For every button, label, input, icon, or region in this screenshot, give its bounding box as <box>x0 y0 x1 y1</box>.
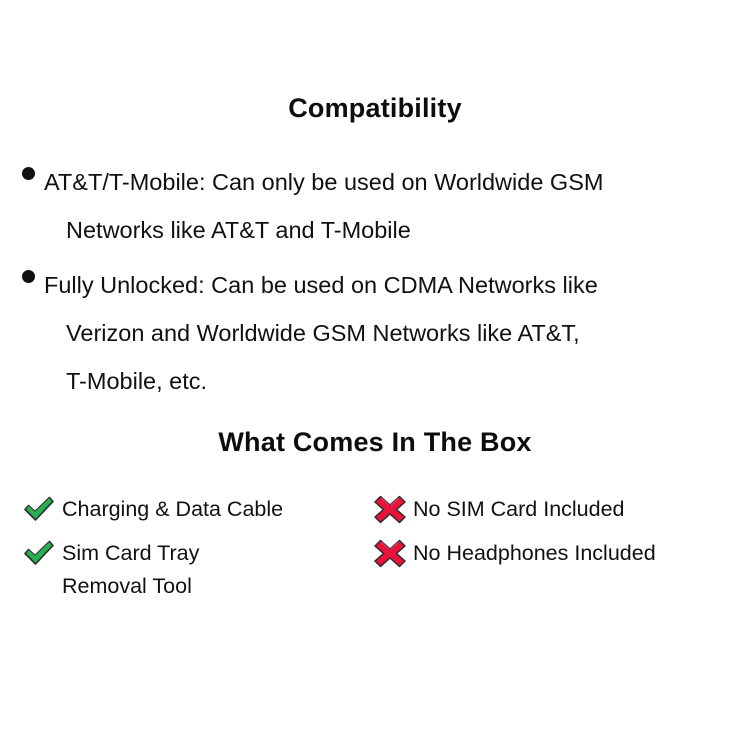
compatibility-item-line: Verizon and Worldwide GSM Networks like … <box>44 309 734 357</box>
filled-circle-bullet-icon <box>22 261 42 283</box>
included-items-column: Charging & Data Cable Sim Card Tray Remo… <box>0 492 368 612</box>
list-item: No Headphones Included <box>373 536 750 571</box>
not-included-item-line: No Headphones Included <box>413 537 750 570</box>
compatibility-item-text: Fully Unlocked: Can be used on CDMA Netw… <box>42 261 734 405</box>
included-item-label: Charging & Data Cable <box>62 492 368 526</box>
included-item-label: Sim Card Tray Removal Tool <box>62 536 368 603</box>
list-item: Charging & Data Cable <box>22 492 368 527</box>
compatibility-list: AT&T/T-Mobile: Can only be used on World… <box>22 158 734 412</box>
list-item: Fully Unlocked: Can be used on CDMA Netw… <box>22 261 734 405</box>
product-info-graphic: Compatibility AT&T/T-Mobile: Can only be… <box>0 0 750 750</box>
green-check-icon <box>22 536 62 571</box>
compatibility-item-line: Networks like AT&T and T-Mobile <box>44 206 734 254</box>
red-cross-icon <box>373 536 413 571</box>
compatibility-item-text: AT&T/T-Mobile: Can only be used on World… <box>42 158 734 254</box>
not-included-item-label: No Headphones Included <box>413 536 750 570</box>
not-included-item-label: No SIM Card Included <box>413 492 750 526</box>
list-item: AT&T/T-Mobile: Can only be used on World… <box>22 158 734 254</box>
compatibility-item-line: T-Mobile, etc. <box>44 357 734 405</box>
compatibility-item-line: AT&T/T-Mobile: Can only be used on World… <box>44 158 734 206</box>
not-included-items-column: No SIM Card Included No Headphones Inclu… <box>368 492 750 612</box>
list-item: Sim Card Tray Removal Tool <box>22 536 368 603</box>
filled-circle-bullet-icon <box>22 158 42 180</box>
red-cross-icon <box>373 492 413 527</box>
whats-in-the-box-heading: What Comes In The Box <box>0 427 750 458</box>
compatibility-item-line: Fully Unlocked: Can be used on CDMA Netw… <box>44 261 734 309</box>
not-included-item-line: No SIM Card Included <box>413 493 750 526</box>
included-item-line: Removal Tool <box>62 570 368 603</box>
green-check-icon <box>22 492 62 527</box>
included-item-line: Sim Card Tray <box>62 537 368 570</box>
compatibility-heading: Compatibility <box>0 93 750 124</box>
included-item-line: Charging & Data Cable <box>62 493 368 526</box>
list-item: No SIM Card Included <box>373 492 750 527</box>
box-contents-columns: Charging & Data Cable Sim Card Tray Remo… <box>0 492 750 612</box>
